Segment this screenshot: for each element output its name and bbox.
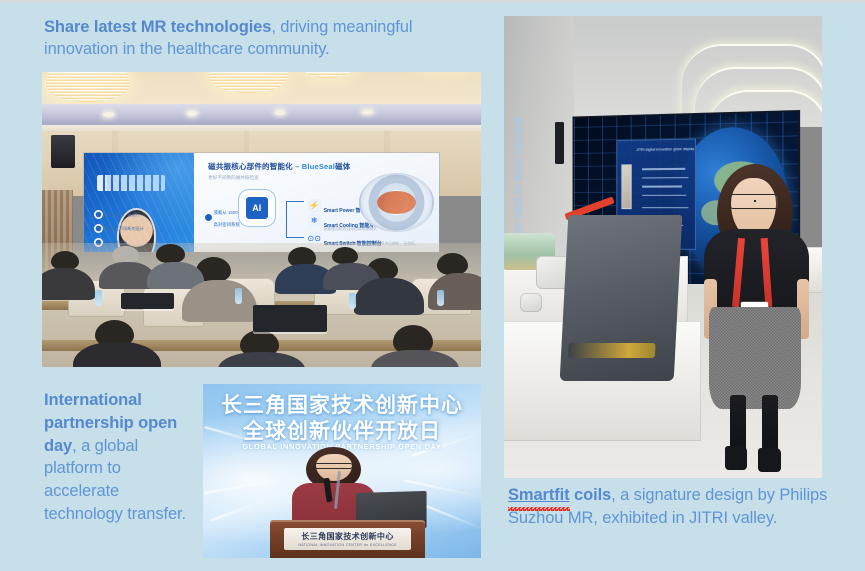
magnet-product-image bbox=[359, 173, 434, 232]
podium-nameplate-cn: 长三角国家技术创新中心 bbox=[301, 531, 393, 542]
slide-title: 磁共振核心部件的智能化 – BlueSeal磁体 bbox=[208, 161, 350, 172]
slide-bullet-line-2: 高对密闭系统 bbox=[213, 222, 239, 228]
headline-bold-text: Share latest MR technologies bbox=[44, 18, 271, 36]
document-icon bbox=[94, 224, 103, 233]
exhibit-wall-text: 国际先进产业基因 30 国家产业创新名牌研究机构 30 bbox=[514, 118, 521, 220]
caption-open-day: International partnership open day, a gl… bbox=[44, 389, 196, 526]
audience-head bbox=[437, 253, 468, 275]
water-bottle bbox=[95, 290, 102, 306]
glasses-icon bbox=[730, 194, 779, 208]
chandelier-icon bbox=[46, 72, 129, 102]
downlight-icon bbox=[187, 111, 198, 116]
ai-chip-icon bbox=[244, 195, 270, 221]
laptop bbox=[253, 305, 328, 332]
laptop bbox=[121, 293, 174, 309]
podium-nameplate: 长三角国家技术创新中心 NATIONAL INNOVATION CENTER f… bbox=[284, 528, 412, 550]
photo-open-day-keynote[interactable]: 长三角国家技术创新中心 全球创新伙伴开放日 GLOBAL INNOVATION … bbox=[203, 384, 481, 558]
screen-panel-title: JITRI digital innovation globe display bbox=[636, 146, 694, 151]
slide-bullet-icon bbox=[203, 212, 214, 223]
water-bottle bbox=[437, 290, 444, 306]
audience-area bbox=[42, 243, 481, 367]
podium: 长三角国家技术创新中心 NATIONAL INNOVATION CENTER f… bbox=[270, 520, 426, 558]
caption-smartfit-bold-rest: coils bbox=[570, 486, 612, 504]
caption-smartfit-misspelled-word: Smartfit bbox=[508, 484, 570, 507]
caption-smartfit-coils: Smartfit coils, a signature design by Ph… bbox=[508, 484, 828, 530]
open-day-scene: 长三角国家技术创新中心 全球创新伙伴开放日 GLOBAL INNOVATION … bbox=[203, 384, 481, 558]
person-boot bbox=[725, 446, 747, 470]
slide-left-item-2: 智能化不间断的设计 bbox=[94, 224, 144, 233]
water-bottle bbox=[349, 293, 356, 309]
brand-logo-icon bbox=[97, 175, 165, 191]
conference-scene: 磁共振核心部件的智能化 – BlueSeal磁体 更好不间断的磁共振检查 液氦从… bbox=[42, 72, 481, 367]
slide-left-item-1: 安全放置、轻运行 bbox=[94, 210, 140, 219]
audience-head bbox=[156, 244, 185, 263]
slide-connector-lines bbox=[286, 201, 304, 239]
podium-nameplate-en: NATIONAL INNOVATION CENTER for EXCELLENC… bbox=[298, 543, 396, 547]
downlight-icon bbox=[103, 112, 114, 117]
screen-map-thumbnail bbox=[621, 164, 632, 209]
wall-speaker bbox=[51, 135, 76, 167]
audience-head bbox=[332, 247, 358, 264]
page-title: Share latest MR technologies, driving me… bbox=[44, 17, 486, 61]
presentation-screen: 磁共振核心部件的智能化 – BlueSeal磁体 更好不间断的磁共振检查 液氦从… bbox=[84, 153, 440, 252]
exhibit-scene: 国际先进产业基因 30 国家产业创新名牌研究机构 30 JITRI digita… bbox=[504, 16, 822, 478]
shield-icon bbox=[94, 210, 103, 219]
photo-exhibit-hall[interactable]: 国际先进产业基因 30 国家产业创新名牌研究机构 30 JITRI digita… bbox=[504, 16, 822, 478]
audience-head bbox=[112, 246, 138, 263]
water-bottle bbox=[235, 288, 242, 304]
top-divider-rule bbox=[0, 0, 865, 2]
slide-subtitle: 更好不间断的磁共振检查 bbox=[208, 175, 259, 181]
backdrop-title-line-2: 全球创新伙伴开放日 bbox=[243, 415, 441, 445]
smartfit-coil-small bbox=[520, 293, 542, 311]
person-leg bbox=[762, 395, 779, 455]
glasses-icon bbox=[314, 463, 353, 469]
snowflake-icon: ❄ bbox=[308, 214, 321, 227]
audience-torso bbox=[182, 280, 257, 322]
person-boot bbox=[758, 448, 780, 472]
photo-conference-presentation[interactable]: 磁共振核心部件的智能化 – BlueSeal磁体 更好不间断的磁共振检查 液氦从… bbox=[42, 72, 481, 367]
person-skirt bbox=[709, 307, 801, 409]
exhibit-scanner-console bbox=[560, 215, 683, 381]
bolt-icon: ⚡ bbox=[308, 199, 321, 212]
wall-lamp-icon bbox=[555, 122, 565, 164]
